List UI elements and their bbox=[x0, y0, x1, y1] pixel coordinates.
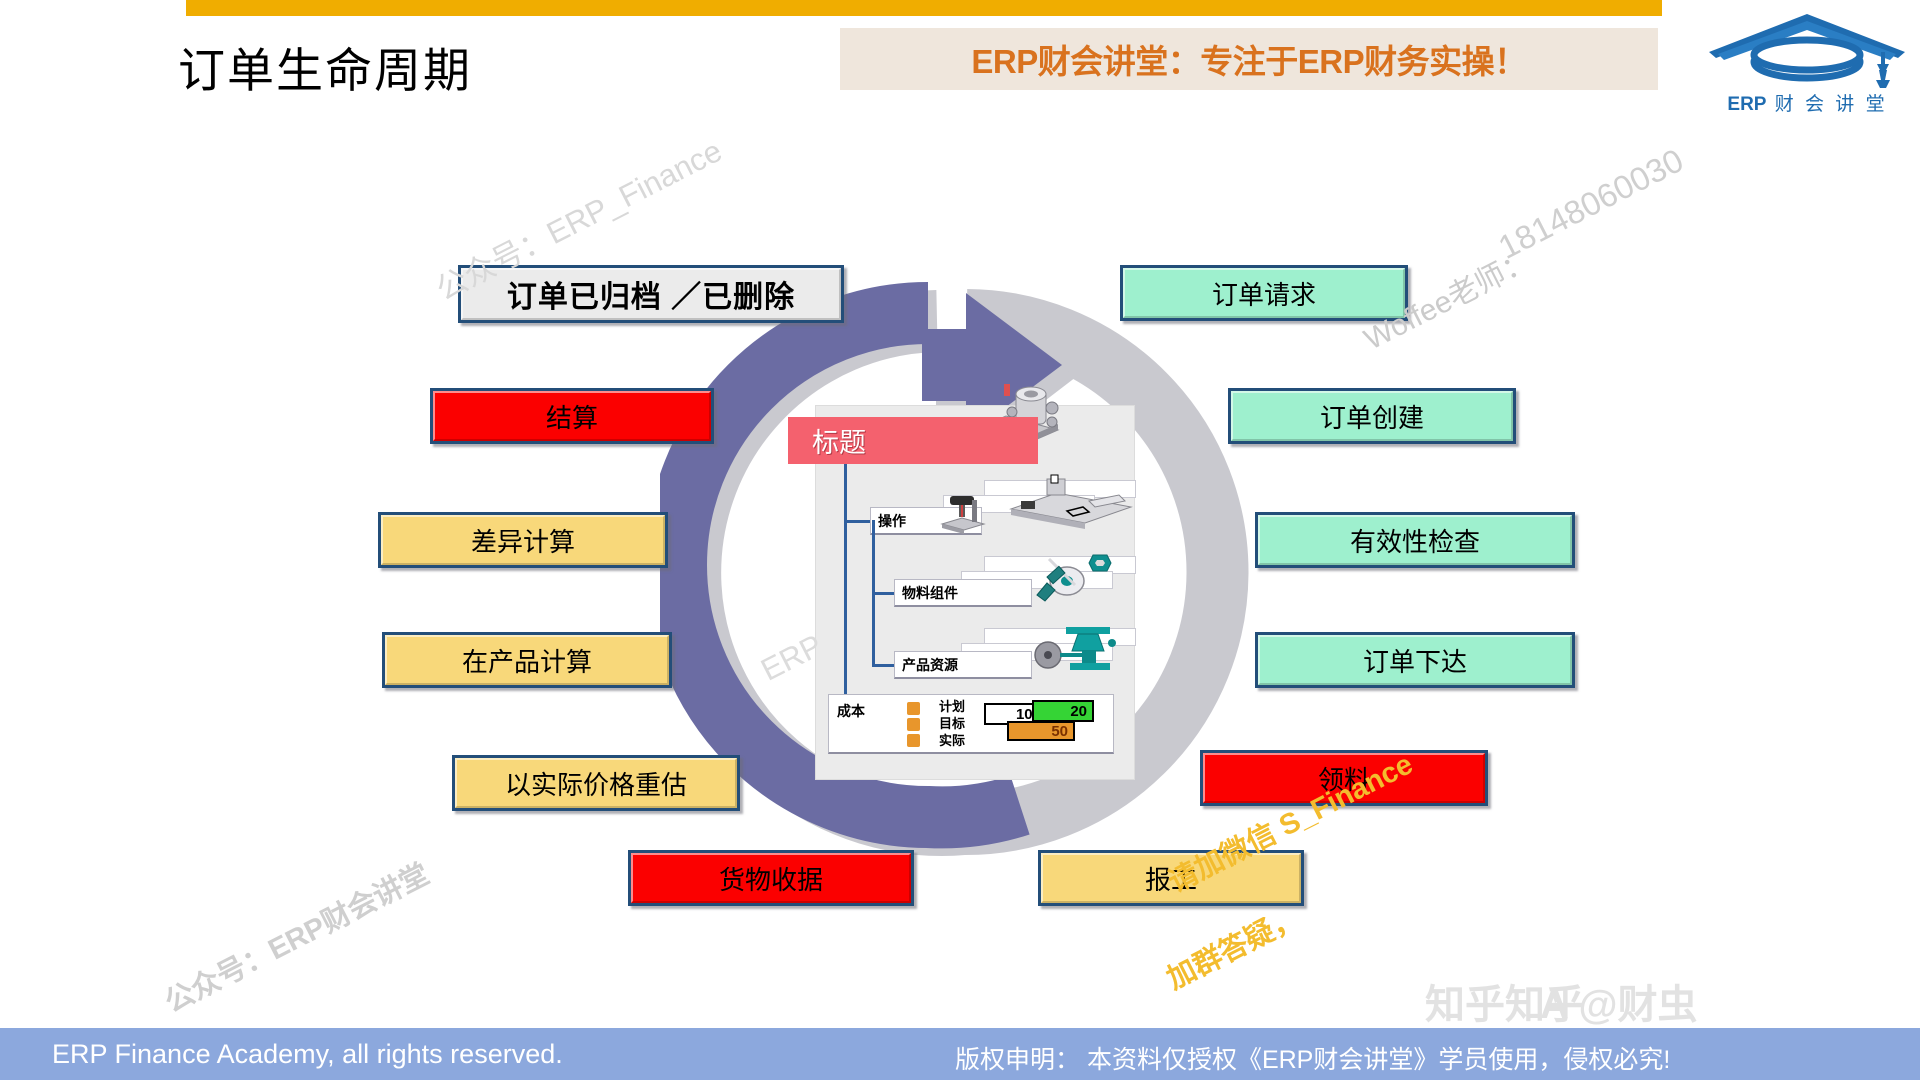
stage-label: 领料 bbox=[1318, 760, 1370, 797]
watermark-public-account-bottom: 公众号：ERP财会讲堂 bbox=[156, 851, 435, 1021]
stage-label: 订单请求 bbox=[1212, 275, 1316, 312]
detail-row-label: 操作 bbox=[871, 511, 906, 531]
drill-press-icon bbox=[926, 494, 996, 538]
detail-row-label: 物料组件 bbox=[895, 583, 958, 603]
cost-bar-target: 20 bbox=[1032, 700, 1094, 722]
watermark-zhihu-logo: 知乎知乎 bbox=[1425, 972, 1585, 1030]
lathe-icon bbox=[999, 473, 1137, 529]
order-detail-card: 标题 操作 物料组件 bbox=[815, 405, 1135, 780]
stage-label: 订单下达 bbox=[1363, 642, 1467, 679]
stage-label: 在产品计算 bbox=[462, 642, 592, 679]
cost-value-actual: 50 bbox=[1051, 723, 1068, 740]
cost-value-target: 20 bbox=[1070, 703, 1087, 720]
cost-legend-target: 目标 bbox=[939, 715, 965, 732]
tree-branch bbox=[872, 664, 896, 667]
footer-copyright-en: ERP Finance Academy, all rights reserved… bbox=[52, 1039, 563, 1070]
stage-box-order-creation[interactable]: 订单创建 bbox=[1228, 388, 1516, 444]
detail-title-text: 标题 bbox=[812, 421, 866, 460]
cost-marker-icon bbox=[907, 702, 920, 715]
footer-copyright-cn: 版权申明： 本资料仅授权《ERP财会讲堂》学员使用，侵权必究! bbox=[955, 1040, 1670, 1076]
tree-sub-spine bbox=[872, 520, 875, 667]
promo-banner-text: ERP财会讲堂：专注于ERP财务实操！ bbox=[971, 35, 1526, 83]
stage-label: 以实际价格重估 bbox=[505, 765, 687, 802]
watermark-join-group: 加群答疑， bbox=[1158, 894, 1306, 997]
stage-label: 差异计算 bbox=[471, 522, 575, 559]
cost-legend: 计划 目标 实际 bbox=[939, 698, 965, 749]
machine-tool-icon bbox=[1026, 621, 1126, 679]
detail-row-material: 物料组件 bbox=[894, 579, 1032, 607]
graduation-cap-icon bbox=[1700, 8, 1915, 100]
stage-box-wip-calculation[interactable]: 在产品计算 bbox=[382, 632, 672, 688]
logo-caption-cn: 财 会 讲 堂 bbox=[1775, 94, 1888, 115]
logo-caption-en: ERP bbox=[1727, 94, 1766, 115]
tree-branch bbox=[872, 592, 896, 595]
stage-box-settlement[interactable]: 结算 bbox=[430, 388, 714, 444]
logo-caption: ERP 财 会 讲 堂 bbox=[1700, 89, 1915, 116]
cost-legend-plan: 计划 bbox=[939, 698, 965, 715]
detail-title-bar: 标题 bbox=[788, 417, 1038, 464]
stage-label: 报工 bbox=[1145, 860, 1197, 897]
stage-box-order-request[interactable]: 订单请求 bbox=[1120, 265, 1408, 321]
stage-box-goods-issue[interactable]: 领料 bbox=[1200, 750, 1488, 806]
stage-box-goods-receipt[interactable]: 货物收据 bbox=[628, 850, 914, 906]
stage-box-order-archived-deleted[interactable]: 订单已归档 ／已删除 bbox=[458, 265, 844, 323]
watermark-phone-number: 18148060030 bbox=[1492, 141, 1689, 267]
brand-logo: ERP 财 会 讲 堂 bbox=[1700, 8, 1915, 118]
stage-box-variance-calculation[interactable]: 差异计算 bbox=[378, 512, 668, 568]
cost-marker-icon bbox=[907, 734, 920, 747]
stage-label: 货物收据 bbox=[719, 860, 823, 897]
stage-box-order-release[interactable]: 订单下达 bbox=[1255, 632, 1575, 688]
tree-branch bbox=[844, 520, 872, 523]
stage-label: 结算 bbox=[546, 398, 598, 435]
stage-box-confirmation[interactable]: 报工 bbox=[1038, 850, 1304, 906]
top-accent-bar bbox=[186, 0, 1662, 16]
stage-label: 订单已归档 ／已删除 bbox=[507, 272, 795, 316]
cost-label: 成本 bbox=[837, 701, 865, 721]
detail-row-cost: 成本 计划 目标 实际 100 20 50 bbox=[828, 694, 1114, 754]
detail-row-resource: 产品资源 bbox=[894, 651, 1032, 679]
page-title: 订单生命周期 bbox=[178, 32, 472, 101]
bolt-washer-nut-icon bbox=[1031, 551, 1127, 603]
cost-legend-actual: 实际 bbox=[939, 732, 965, 749]
cost-marker-icon bbox=[907, 718, 920, 731]
stage-label: 订单创建 bbox=[1320, 398, 1424, 435]
stage-label: 有效性检查 bbox=[1350, 522, 1480, 559]
watermark-zhihu-handle: A @财虫 bbox=[1540, 972, 1698, 1030]
detail-row-label: 产品资源 bbox=[895, 655, 958, 675]
stage-box-revaluation-actual-price[interactable]: 以实际价格重估 bbox=[452, 755, 740, 811]
cost-bar-actual: 50 bbox=[1007, 721, 1075, 741]
tree-spine bbox=[844, 464, 847, 720]
promo-banner: ERP财会讲堂：专注于ERP财务实操！ bbox=[840, 28, 1658, 90]
footer-bar: ERP Finance Academy, all rights reserved… bbox=[0, 1028, 1920, 1080]
stage-box-availability-check[interactable]: 有效性检查 bbox=[1255, 512, 1575, 568]
